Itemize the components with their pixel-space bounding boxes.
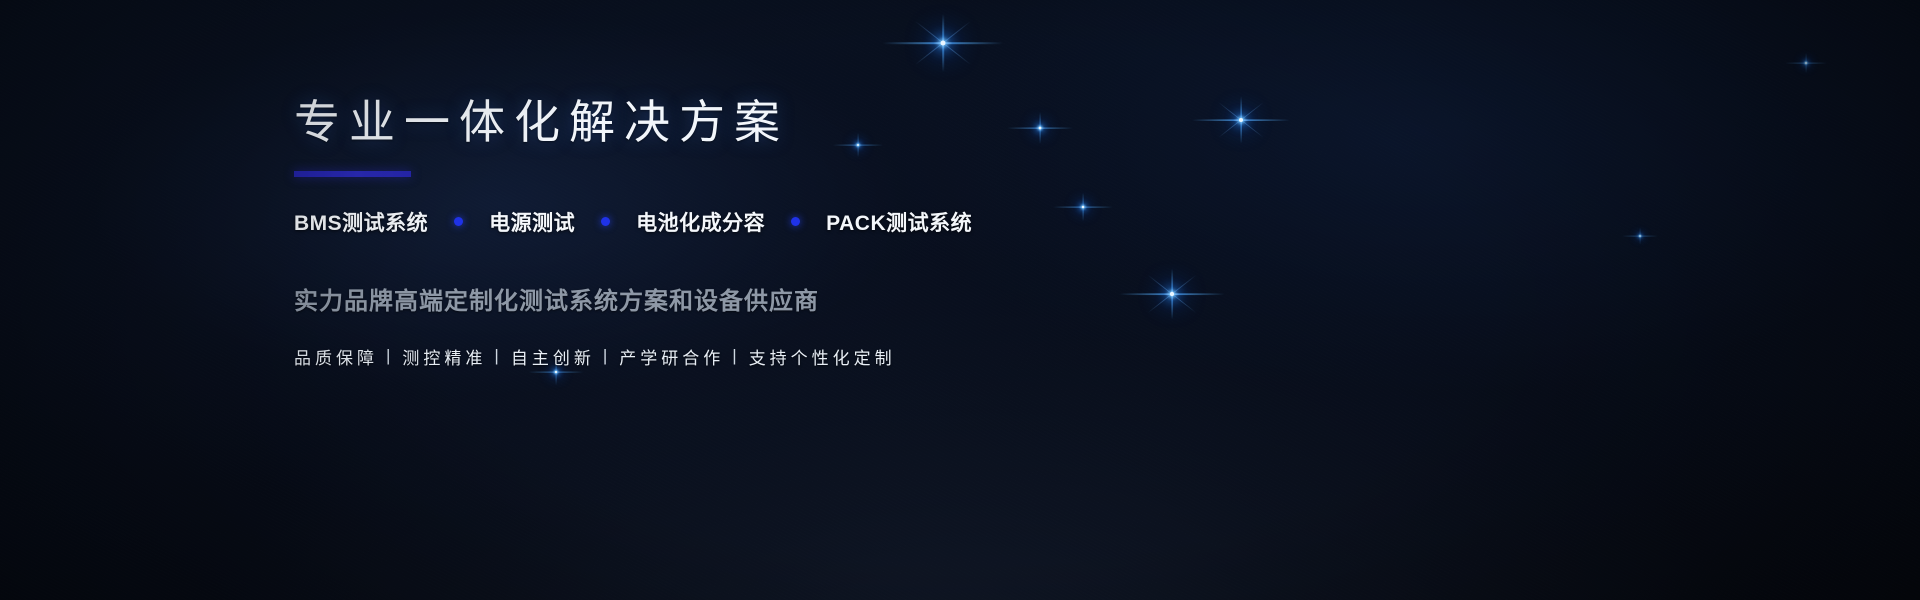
feature-separator: | [386,346,390,366]
hero-content: 专业一体化解决方案 BMS测试系统 电源测试 电池化成分容 PACK测试系统 实… [294,96,1294,369]
feature-item: 自主创新 [511,344,595,369]
feature-item: 品质保障 [294,344,378,369]
page-subtitle: 实力品牌高端定制化测试系统方案和设备供应商 [294,281,1294,316]
product-tag-list: BMS测试系统 电源测试 电池化成分容 PACK测试系统 [294,207,1294,237]
tag-separator-dot-icon [601,217,610,226]
feature-item: 支持个性化定制 [749,344,896,369]
title-accent-bar [294,171,411,177]
hero-banner: 专业一体化解决方案 BMS测试系统 电源测试 电池化成分容 PACK测试系统 实… [0,0,1920,600]
product-tag[interactable]: PACK测试系统 [826,207,972,237]
tag-separator-dot-icon [454,217,463,226]
feature-separator: | [732,346,736,366]
feature-separator: | [494,346,498,366]
product-tag[interactable]: 电源测试 [489,207,575,237]
product-tag[interactable]: 电池化成分容 [636,207,765,237]
tag-separator-dot-icon [791,217,800,226]
feature-item: 测控精准 [402,344,486,369]
feature-separator: | [603,346,607,366]
feature-item: 产学研合作 [619,344,724,369]
feature-list: 品质保障 | 测控精准 | 自主创新 | 产学研合作 | 支持个性化定制 [294,344,1294,369]
product-tag[interactable]: BMS测试系统 [294,207,428,237]
page-title: 专业一体化解决方案 [294,96,1294,149]
